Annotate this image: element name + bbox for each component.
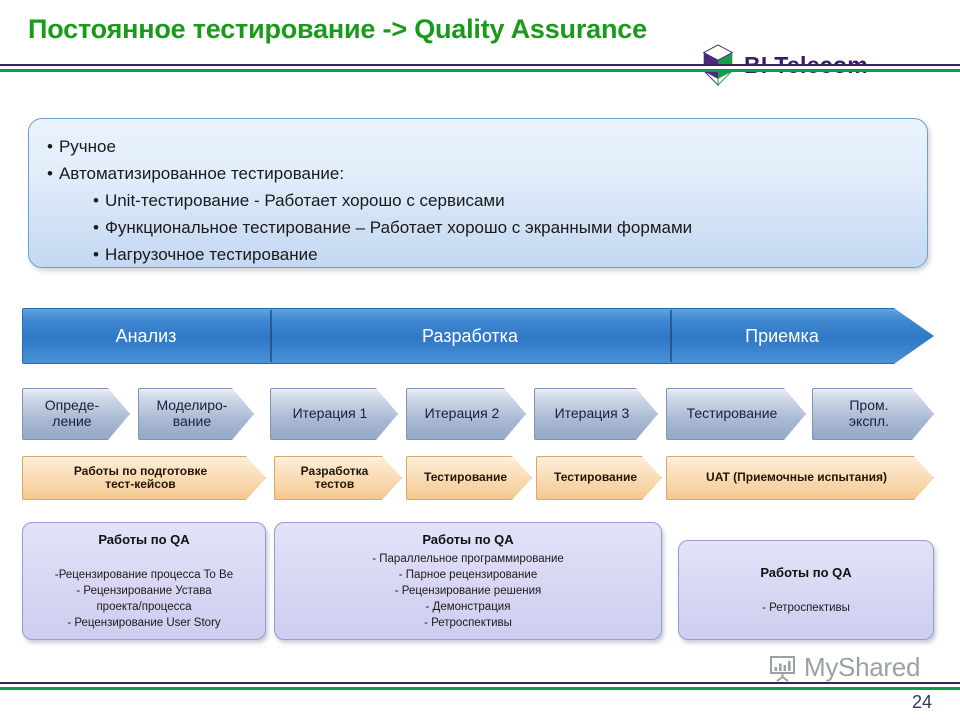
chevron-итерация-2[interactable]: Итерация 2 xyxy=(406,388,526,440)
bullet-text: Автоматизированное тестирование: xyxy=(59,164,344,183)
presentation-board-icon xyxy=(768,653,798,683)
divider-green-line xyxy=(0,687,960,690)
chevron-label: Тестирование xyxy=(550,471,648,484)
bullet-item: •Автоматизированное тестирование: xyxy=(47,160,909,187)
bullet-item: •Unit-тестирование - Работает хорошо с с… xyxy=(93,187,909,214)
myshared-watermark: MyShared xyxy=(768,652,920,683)
bullet-dot-icon: • xyxy=(93,191,99,210)
qa-box-title: Работы по QA xyxy=(422,532,513,547)
page-title: Постоянное тестирование -> Quality Assur… xyxy=(28,14,928,45)
qa-box-title: Работы по QA xyxy=(760,565,851,580)
bullet-content-box: •Ручное •Автоматизированное тестирование… xyxy=(28,118,928,268)
qa-summary-box-1[interactable]: Работы по QA-Рецензирование процесса To … xyxy=(22,522,266,640)
bullet-dot-icon: • xyxy=(93,218,99,237)
chevron-uat-приемочные-испытания[interactable]: UAT (Приемочные испытания) xyxy=(666,456,934,500)
bullet-text: Функциональное тестирование – Работает х… xyxy=(105,218,692,237)
page-number: 24 xyxy=(912,692,932,713)
qa-summary-box-2[interactable]: Работы по QA- Параллельное программирова… xyxy=(274,522,662,640)
chevron-label: Тестирование xyxy=(683,406,790,422)
phase-banner: Анализ Разработка Приемка xyxy=(22,308,934,364)
process-steps-row: Опреде-лениеМоделиро-ваниеИтерация 1Итер… xyxy=(22,388,934,440)
chevron-итерация-1[interactable]: Итерация 1 xyxy=(270,388,398,440)
chevron-тестирование[interactable]: Тестирование xyxy=(406,456,532,500)
bullet-text: Unit-тестирование - Работает хорошо с се… xyxy=(105,191,505,210)
bullet-item: •Нагрузочное тестирование xyxy=(93,241,909,268)
phase-cell-acceptance[interactable]: Приемка xyxy=(670,308,894,364)
bullet-dot-icon: • xyxy=(47,164,53,183)
phase-label: Приемка xyxy=(745,326,819,347)
chevron-label: Итерация 3 xyxy=(551,406,642,422)
chevron-разработка-тестов[interactable]: Разработкатестов xyxy=(274,456,402,500)
bullet-text: Нагрузочное тестирование xyxy=(105,245,318,264)
phase-cell-development[interactable]: Разработка xyxy=(270,308,670,364)
phase-label: Анализ xyxy=(116,326,177,347)
bullet-item: •Функциональное тестирование – Работает … xyxy=(93,214,909,241)
chevron-label: Моделиро-вание xyxy=(152,398,239,429)
qa-tasks-row: Работы по подготовкетест-кейсовРазработк… xyxy=(22,456,934,500)
chevron-label: UAT (Приемочные испытания) xyxy=(702,471,898,484)
watermark-text: MyShared xyxy=(804,652,920,683)
qa-summary-boxes-row: Работы по QA-Рецензирование процесса To … xyxy=(22,522,934,640)
chevron-label: Итерация 1 xyxy=(289,406,380,422)
chevron-пром-экспл[interactable]: Пром.экспл. xyxy=(812,388,934,440)
chevron-label: Работы по подготовкетест-кейсов xyxy=(70,465,218,492)
chevron-label: Итерация 2 xyxy=(421,406,512,422)
bullet-text: Ручное xyxy=(59,137,116,156)
bullet-dot-icon: • xyxy=(47,137,53,156)
chevron-тестирование[interactable]: Тестирование xyxy=(536,456,662,500)
bullet-dot-icon: • xyxy=(93,245,99,264)
chevron-label: Разработкатестов xyxy=(297,465,380,492)
qa-box-lines: - Параллельное программирование- Парное … xyxy=(372,551,564,631)
qa-box-lines: -Рецензирование процесса To Be- Рецензир… xyxy=(55,551,233,631)
chevron-тестирование[interactable]: Тестирование xyxy=(666,388,806,440)
chevron-опреде-ление[interactable]: Опреде-ление xyxy=(22,388,130,440)
phase-cell-group: Анализ Разработка Приемка xyxy=(22,308,894,364)
chevron-label: Тестирование xyxy=(420,471,518,484)
qa-box-lines: - Ретроспективы xyxy=(762,584,850,616)
chevron-итерация-3[interactable]: Итерация 3 xyxy=(534,388,658,440)
qa-summary-box-3[interactable]: Работы по QA- Ретроспективы xyxy=(678,540,934,640)
divider-green-line xyxy=(0,69,960,72)
chevron-работы-по-подготовке-тест-кейсов[interactable]: Работы по подготовкетест-кейсов xyxy=(22,456,266,500)
phase-cell-analysis[interactable]: Анализ xyxy=(22,308,270,364)
header-divider xyxy=(0,64,960,72)
chevron-моделиро-вание[interactable]: Моделиро-вание xyxy=(138,388,254,440)
phase-label: Разработка xyxy=(422,326,518,347)
bullet-item: •Ручное xyxy=(47,133,909,160)
chevron-label: Пром.экспл. xyxy=(845,398,901,429)
footer-divider xyxy=(0,682,960,690)
qa-box-title: Работы по QA xyxy=(98,532,189,547)
chevron-label: Опреде-ление xyxy=(41,398,111,429)
